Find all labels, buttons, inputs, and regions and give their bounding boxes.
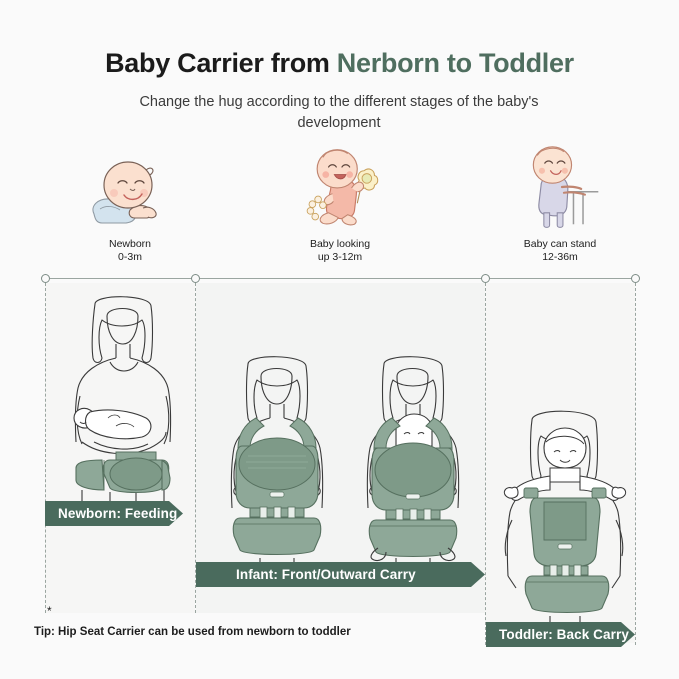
stage-caption-newborn: Newborn 0-3m bbox=[55, 238, 205, 264]
footnote-star: * bbox=[47, 604, 52, 618]
banner-infant-carry: Infant: Front/Outward Carry bbox=[196, 562, 485, 587]
stage-caption-newborn-line1: Newborn bbox=[55, 238, 205, 251]
banner-newborn-feeding-label: Newborn: Feeding bbox=[45, 506, 177, 521]
timeline-axis bbox=[45, 278, 635, 279]
page-title: Baby Carrier from Nerborn to Toddler bbox=[0, 48, 679, 79]
banner-infant-carry-label: Infant: Front/Outward Carry bbox=[196, 567, 416, 582]
mother-holding-newborn-in-hip-seat bbox=[50, 292, 196, 517]
stage-caption-baby-can-stand-line2: 12-36m bbox=[485, 251, 635, 264]
banner-toddler-back-carry: Toddler: Back Carry bbox=[486, 622, 635, 647]
mother-front-carry-outward bbox=[348, 352, 486, 577]
toddler-standing-icon bbox=[512, 144, 612, 230]
infographic-page: Baby Carrier from Nerborn to Toddler Cha… bbox=[0, 0, 679, 679]
banner-newborn-feeding: Newborn: Feeding bbox=[45, 501, 183, 526]
title-accent-text: Nerborn to Toddler bbox=[337, 48, 574, 78]
timeline-node-start bbox=[41, 274, 50, 283]
divider-left bbox=[45, 283, 46, 613]
page-subtitle: Change the hug according to the differen… bbox=[104, 92, 574, 134]
mother-front-carry-inward bbox=[212, 352, 350, 577]
baby-sitting-with-rattle-icon bbox=[292, 144, 392, 230]
timeline-node-1 bbox=[191, 274, 200, 283]
stage-caption-baby-looking-up-line1: Baby looking bbox=[265, 238, 415, 251]
baby-tummy-time-icon bbox=[80, 148, 180, 234]
timeline-node-end bbox=[631, 274, 640, 283]
stage-caption-baby-looking-up: Baby looking up 3-12m bbox=[265, 238, 415, 264]
footnote-tip: Tip: Hip Seat Carrier can be used from n… bbox=[34, 626, 351, 638]
timeline-node-2 bbox=[481, 274, 490, 283]
title-plain-text: Baby Carrier from bbox=[105, 48, 337, 78]
stage-caption-baby-looking-up-line2: up 3-12m bbox=[265, 251, 415, 264]
stage-caption-newborn-line2: 0-3m bbox=[55, 251, 205, 264]
mother-back-carry-toddler bbox=[492, 404, 638, 634]
stage-caption-baby-can-stand: Baby can stand 12-36m bbox=[485, 238, 635, 264]
banner-toddler-back-carry-label: Toddler: Back Carry bbox=[486, 627, 629, 642]
stage-caption-baby-can-stand-line1: Baby can stand bbox=[485, 238, 635, 251]
